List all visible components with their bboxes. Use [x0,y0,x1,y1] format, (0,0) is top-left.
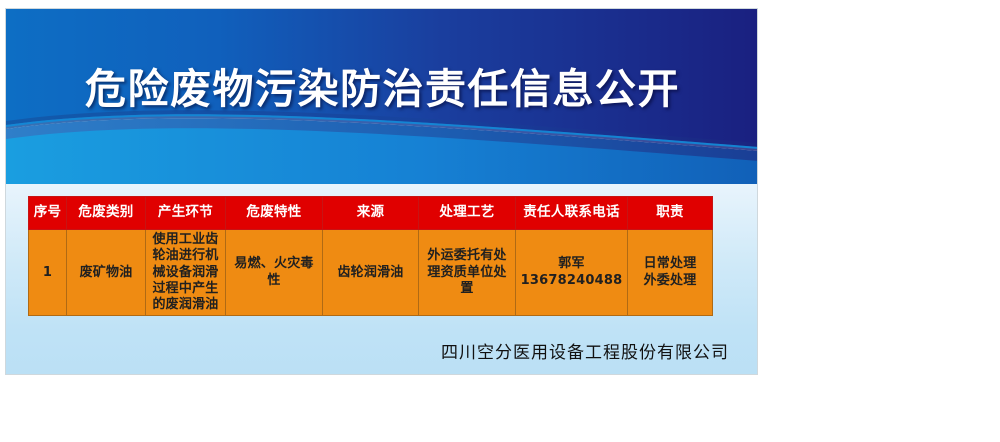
contact-name: 郭军 [518,256,625,272]
duty-line-1: 日常处理 [630,256,710,272]
duty-line-2: 外委处理 [630,273,710,289]
column-header-hazard: 危废特性 [226,197,323,230]
banner-header: 危险废物污染防治责任信息公开 [6,9,758,184]
column-header-source: 来源 [323,197,419,230]
column-header-process: 处理工艺 [419,197,516,230]
poster-container: 危险废物污染防治责任信息公开 序号 危废类别 产生环节 危废特性 来源 处理工艺… [5,8,758,375]
cell-hazard: 易燃、火灾毒性 [226,230,323,316]
table-row: 1 废矿物油 使用工业齿轮油进行机械设备润滑过程中产生的废润滑油 易燃、火灾毒性… [29,230,713,316]
cell-duty: 日常处理 外委处理 [628,230,713,316]
column-header-duty: 职责 [628,197,713,230]
column-header-index: 序号 [29,197,67,230]
cell-contact: 郭军 13678240488 [516,230,628,316]
page-title: 危险废物污染防治责任信息公开 [6,55,758,115]
cell-stage: 使用工业齿轮油进行机械设备润滑过程中产生的废润滑油 [146,230,226,316]
cell-source: 齿轮润滑油 [323,230,419,316]
column-header-stage: 产生环节 [146,197,226,230]
cell-category: 废矿物油 [67,230,146,316]
hazardous-waste-table: 序号 危废类别 产生环节 危废特性 来源 处理工艺 责任人联系电话 职责 1 废… [28,196,713,316]
column-header-category: 危废类别 [67,197,146,230]
table-header-row: 序号 危废类别 产生环节 危废特性 来源 处理工艺 责任人联系电话 职责 [29,197,713,230]
column-header-contact: 责任人联系电话 [516,197,628,230]
company-name: 四川空分医用设备工程股份有限公司 [441,338,729,363]
contact-phone: 13678240488 [518,273,625,289]
cell-index: 1 [29,230,67,316]
cell-process: 外运委托有处理资质单位处置 [419,230,516,316]
